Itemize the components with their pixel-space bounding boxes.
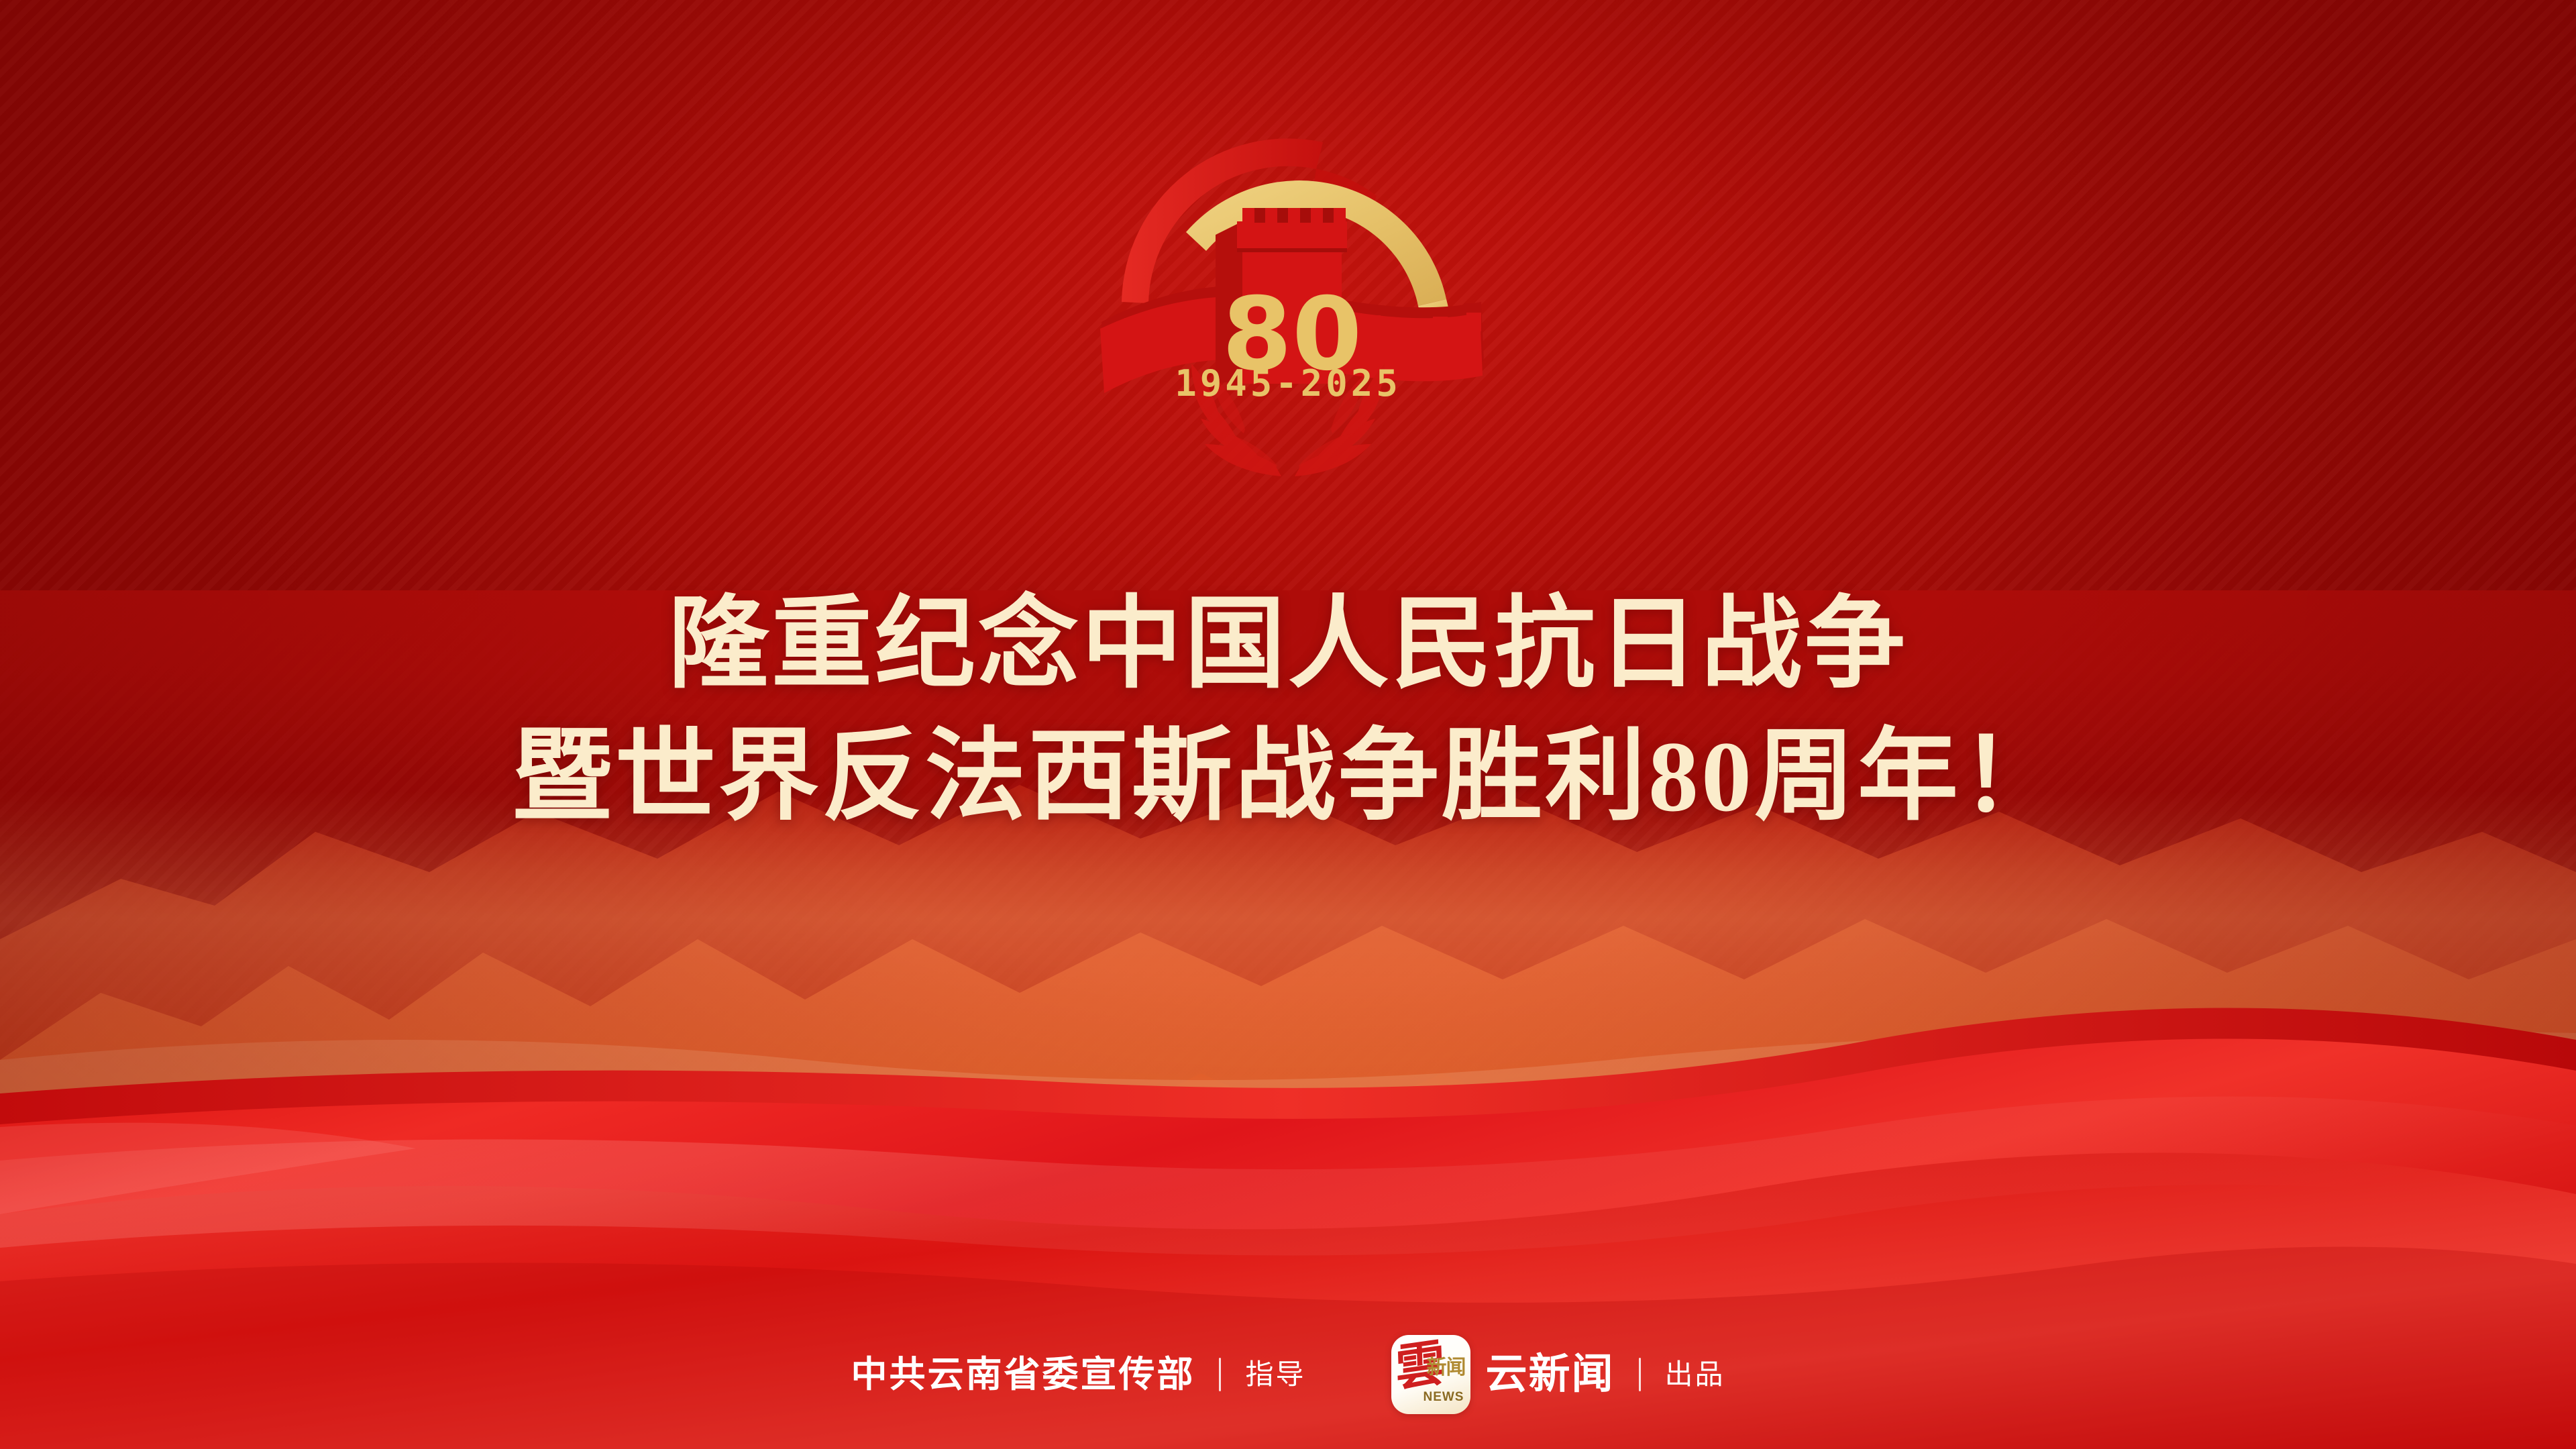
footer-divider-2 [1639,1358,1641,1391]
logo-news-text: NEWS [1423,1391,1464,1403]
page-title: 隆重纪念中国人民抗日战争 暨世界反法西斯战争胜利80周年！ [0,584,2576,839]
logo-xinwen-chars: 新闻 [1426,1358,1465,1378]
footer-brand-role: 出品 [1665,1360,1725,1389]
anniversary-emblem: 80 1945-2025 [1073,101,1503,517]
brand-block: 雲 新闻 NEWS 云新闻 [1391,1335,1614,1414]
yunnan-news-logo-icon: 雲 新闻 NEWS [1391,1335,1470,1414]
footer-credits: 中共云南省委宣传部 指导 雲 新闻 NEWS 云新闻 出品 [0,1335,2576,1414]
footer-divider-1 [1219,1358,1221,1391]
title-line-1: 隆重纪念中国人民抗日战争 [0,584,2576,706]
emblem-date-range: 1945-2025 [1073,362,1503,405]
footer-organization: 中共云南省委宣传部 [851,1356,1195,1393]
footer-organization-role: 指导 [1245,1360,1305,1389]
commemoration-poster: 80 1945-2025 隆重纪念中国人民抗日战争 [0,0,2576,1449]
title-line-2: 暨世界反法西斯战争胜利80周年！ [0,716,2576,839]
brand-name: 云新闻 [1485,1354,1614,1395]
